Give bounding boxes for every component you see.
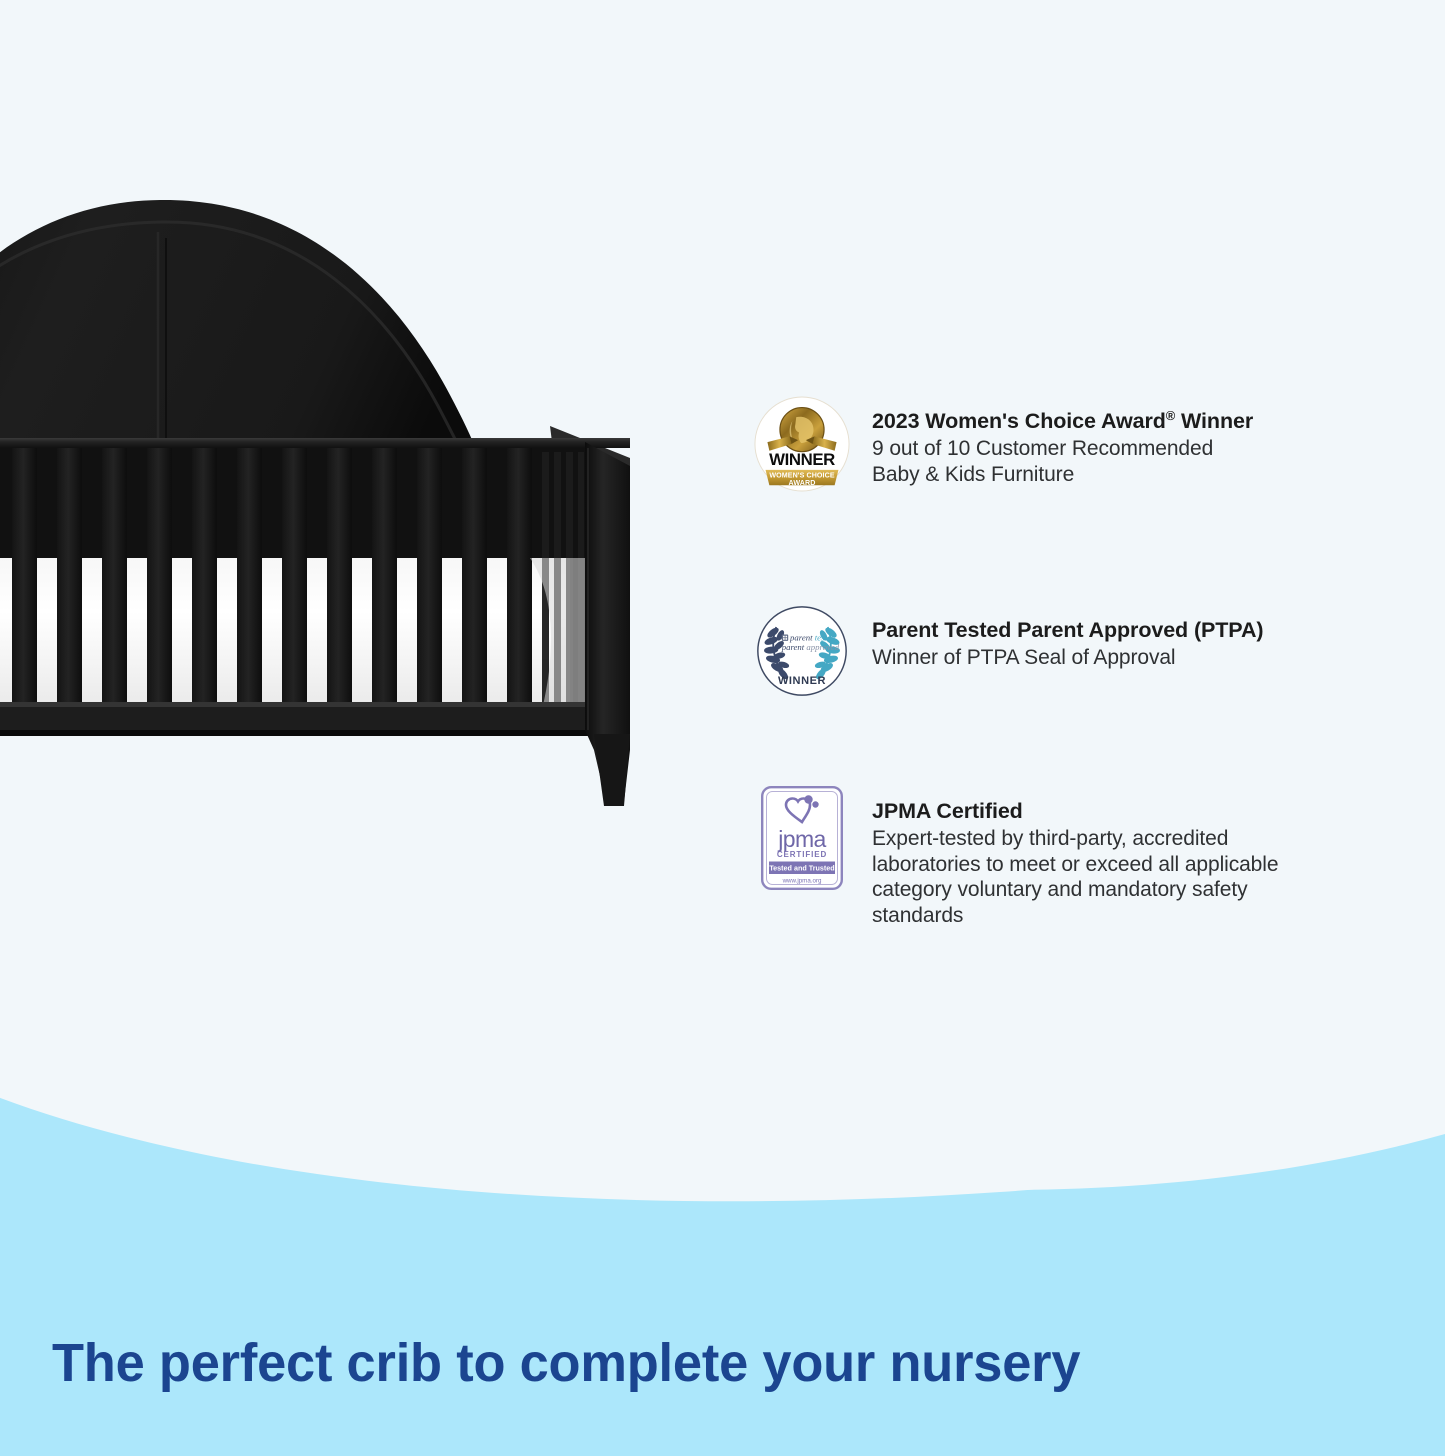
- feature-text: Parent Tested Parent Approved (PTPA) Win…: [872, 605, 1263, 671]
- feature-row-ptpa: parent tested parent approved WINNER Par…: [752, 605, 1263, 697]
- ptpa-seal-badge: parent tested parent approved WINNER: [756, 605, 848, 697]
- baby-head-icon: [804, 795, 812, 803]
- feature-title-main: 2023 Women's Choice Award: [872, 409, 1166, 433]
- jpma-certified-badge: jpma CERTIFIED Tested and Trusted www.jp…: [761, 786, 843, 890]
- feature-title: JPMA Certified: [872, 796, 1278, 826]
- badge-winner-text: WINNER: [778, 675, 826, 687]
- womens-choice-award-badge: WINNER WOMEN'S CHOICE AWARD: [754, 396, 850, 492]
- baby-head-small-icon: [812, 801, 818, 807]
- badge-line2-text: AWARD: [789, 479, 816, 487]
- feature-description: Expert-tested by third-party, accredited…: [872, 826, 1278, 928]
- badge-slot: WINNER WOMEN'S CHOICE AWARD: [752, 396, 852, 492]
- page-headline: The perfect crib to complete your nurser…: [52, 1330, 1313, 1396]
- feature-title-tail: Winner: [1175, 409, 1253, 433]
- badge-slot: jpma CERTIFIED Tested and Trusted www.jp…: [752, 786, 852, 890]
- feature-title: 2023 Women's Choice Award® Winner: [872, 406, 1253, 436]
- feature-row-womens-choice: WINNER WOMEN'S CHOICE AWARD 2023 Women's…: [752, 396, 1253, 492]
- feature-desc-line: laboratories to meet or exceed all appli…: [872, 852, 1278, 878]
- feature-description: Winner of PTPA Seal of Approval: [872, 645, 1263, 671]
- feature-desc-line: standards: [872, 903, 1278, 929]
- registered-trademark-icon: ®: [1166, 408, 1175, 423]
- badge-script-line1: parent tested: [789, 632, 836, 642]
- feature-text: 2023 Women's Choice Award® Winner 9 out …: [872, 396, 1253, 487]
- badge-winner-text: WINNER: [769, 450, 835, 469]
- badge-slot: parent tested parent approved WINNER: [752, 605, 852, 697]
- feature-desc-line: Winner of PTPA Seal of Approval: [872, 645, 1263, 671]
- feature-row-jpma: jpma CERTIFIED Tested and Trusted www.jp…: [752, 786, 1278, 928]
- feature-desc-line: category voluntary and mandatory safety: [872, 877, 1278, 903]
- feature-text: JPMA Certified Expert-tested by third-pa…: [872, 786, 1278, 928]
- feature-desc-line: Expert-tested by third-party, accredited: [872, 826, 1278, 852]
- feature-title: Parent Tested Parent Approved (PTPA): [872, 615, 1263, 645]
- feature-desc-line: 9 out of 10 Customer Recommended: [872, 436, 1253, 462]
- badge-certified-text: CERTIFIED: [777, 850, 827, 859]
- feature-desc-line: Baby & Kids Furniture: [872, 462, 1253, 488]
- badge-wordmark: jpma: [777, 826, 826, 852]
- crib-product-image: [0, 190, 710, 1050]
- feature-description: 9 out of 10 Customer Recommended Baby & …: [872, 436, 1253, 487]
- badge-script-line2: parent approved: [781, 642, 840, 652]
- badge-url-text: www.jpma.org: [782, 878, 822, 885]
- crib-slats: [0, 448, 590, 712]
- product-feature-panel: WINNER WOMEN'S CHOICE AWARD 2023 Women's…: [0, 0, 1445, 1456]
- badge-banner-text: Tested and Trusted: [769, 863, 834, 872]
